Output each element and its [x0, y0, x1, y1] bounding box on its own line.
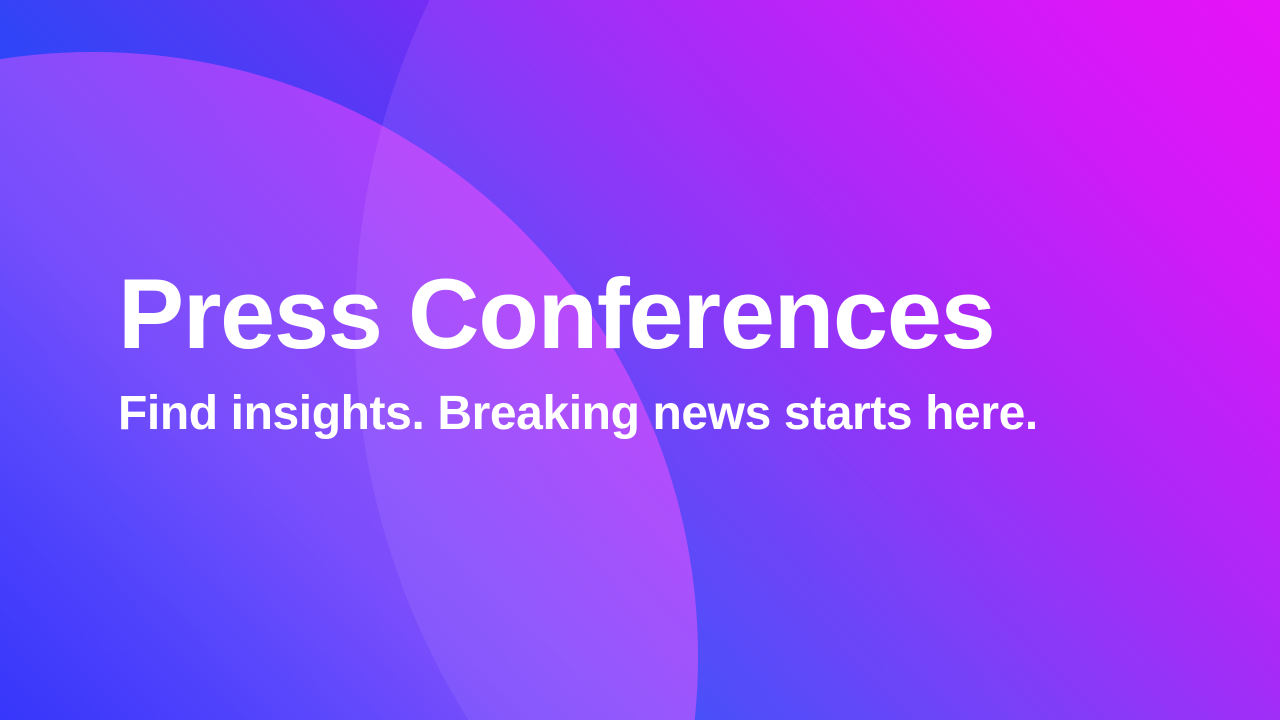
hero-content: Press Conferences Find insights. Breakin…: [118, 262, 1178, 443]
hero-banner: Press Conferences Find insights. Breakin…: [0, 0, 1280, 720]
page-subtitle: Find insights. Breaking news starts here…: [118, 385, 1178, 443]
page-title: Press Conferences: [118, 262, 1178, 367]
